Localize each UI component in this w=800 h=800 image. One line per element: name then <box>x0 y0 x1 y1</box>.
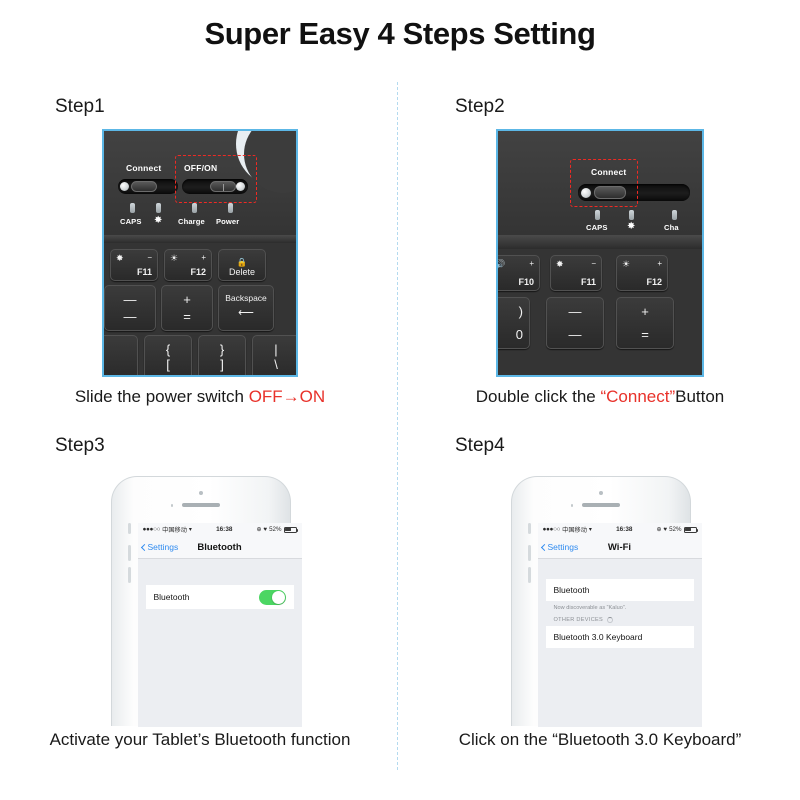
step-1-cell: Step1 Connect OFF/ON <box>0 96 400 407</box>
key-bracket-right-lower: ] <box>199 357 245 372</box>
bluetooth-led <box>629 210 634 220</box>
brightness-down-icon: ✸ <box>556 259 564 270</box>
back-to-settings-button[interactable]: Settings <box>538 542 579 552</box>
silent-switch[interactable] <box>528 523 531 534</box>
key-f10[interactable]: 🔊 + F10 <box>496 255 540 291</box>
bluetooth-icon: ✸ <box>627 222 635 232</box>
key-f12-plus: + <box>657 259 662 268</box>
key-minus-lower: — <box>547 327 603 342</box>
key-minus[interactable]: — — <box>104 285 156 331</box>
phone-body: ●●●○○ 中国移动 ▾ 16:38 ⊕ ♥ 52% <box>511 476 691 726</box>
status-bar: ●●●○○ 中国移动 ▾ 16:38 ⊕ ♥ 52% <box>138 523 302 536</box>
bluetooth-row-label: Bluetooth <box>154 592 190 602</box>
bluetooth-toggle[interactable] <box>259 590 286 605</box>
keyboard-switch-panel: Connect OFF/ON <box>104 131 296 235</box>
signal-dots-icon: ●●●○○ <box>143 526 161 533</box>
key-f12[interactable]: ☀ + F12 <box>164 249 212 281</box>
volume-up-icon: 🔊 <box>496 259 505 270</box>
power-led-label: Power <box>216 217 239 226</box>
connect-highlight-box <box>570 159 638 207</box>
connect-switch-housing[interactable] <box>118 179 178 194</box>
battery-icon <box>284 527 297 533</box>
step-2-caption-suffix: Button <box>675 387 724 406</box>
step-3-caption-text: Activate your Tablet’s Bluetooth functio… <box>50 730 351 749</box>
brightness-up-icon: ☀ <box>622 259 630 270</box>
carrier-name: 中国移动 <box>562 525 587 534</box>
step-4-label: Step4 <box>400 435 800 457</box>
front-camera-icon <box>599 491 603 495</box>
status-right: ⊕ ♥ 52% <box>657 526 697 533</box>
other-devices-label: OTHER DEVICES <box>554 617 604 623</box>
backspace-arrow-icon: ⟵ <box>219 306 273 319</box>
status-time: 16:38 <box>592 526 657 533</box>
key-zero-upper: ) <box>496 304 529 319</box>
caps-led-label: CAPS <box>586 223 608 232</box>
status-icons: ⊕ ♥ <box>257 526 268 533</box>
charge-led-label: Cha <box>664 223 679 232</box>
power-led <box>228 203 233 213</box>
carrier-name: 中国移动 <box>162 525 187 534</box>
chevron-left-icon <box>140 543 147 550</box>
step-1-caption-text: Slide the power switch <box>75 387 249 406</box>
brightness-down-icon: ✸ <box>116 253 124 264</box>
key-backspace[interactable]: Backspace ⟵ <box>218 285 274 331</box>
step-3-label: Step3 <box>0 435 400 457</box>
key-f11[interactable]: ✸ − F11 <box>110 249 158 281</box>
step-4-phone-image: ●●●○○ 中国移动 ▾ 16:38 ⊕ ♥ 52% <box>493 468 708 720</box>
key-bracket-right[interactable]: } ] <box>198 335 246 377</box>
step-1-caption-highlight: OFF→ON <box>249 387 326 406</box>
key-bracket-left[interactable]: { [ <box>144 335 192 377</box>
settings-list: Bluetooth <box>138 559 302 609</box>
steps-row-bottom: Step3 ●●●○○ 中国移动 ▾ <box>0 435 800 750</box>
bluetooth-toggle-row[interactable]: Bluetooth <box>146 585 294 609</box>
key-minus[interactable]: — — <box>546 297 604 349</box>
phone-screen: ●●●○○ 中国移动 ▾ 16:38 ⊕ ♥ 52% <box>538 523 702 727</box>
step-1-keyboard-image: Connect OFF/ON <box>102 129 298 377</box>
charge-led-label: Charge <box>178 217 205 226</box>
status-left: ●●●○○ 中国移动 ▾ <box>143 525 193 534</box>
page-title: Super Easy 4 Steps Setting <box>0 0 800 52</box>
bluetooth-led <box>156 203 161 213</box>
keyboard-keys-area: ✸ − F11 ☀ + F12 🔒 Delete <box>104 235 296 375</box>
key-plus-upper: + <box>162 292 212 307</box>
key-plus-lower: = <box>617 327 673 342</box>
key-backspace-label: Backspace <box>219 293 273 303</box>
phone-screen: ●●●○○ 中国移动 ▾ 16:38 ⊕ ♥ 52% <box>138 523 302 727</box>
chevron-left-icon <box>540 543 547 550</box>
key-f11-minus: − <box>591 259 596 268</box>
key-plus[interactable]: + = <box>161 285 213 331</box>
device-row-bluetooth-keyboard[interactable]: Bluetooth 3.0 Keyboard <box>546 626 694 648</box>
status-right: ⊕ ♥ 52% <box>257 526 297 533</box>
key-f12-plus: + <box>201 253 206 262</box>
keyboard-edge-strip <box>498 235 702 249</box>
proximity-sensor-icon <box>571 504 574 507</box>
key-plus-lower: = <box>162 309 212 324</box>
key-backslash-lower: \ <box>253 357 298 372</box>
key-delete-label: Delete <box>219 267 265 277</box>
off-on-highlight-box <box>175 155 257 203</box>
key-minus-upper: — <box>105 292 155 307</box>
proximity-sensor-icon <box>171 504 174 507</box>
brightness-up-icon: ☀ <box>170 253 178 264</box>
keyboard-keys-area: 🔊 + F10 ✸ − F11 ☀ + F12 <box>498 235 702 375</box>
step-2-label: Step2 <box>400 96 800 118</box>
back-label: Settings <box>548 542 579 552</box>
connect-switch-indicator <box>120 182 129 191</box>
key-f12[interactable]: ☀ + F12 <box>616 255 668 291</box>
step-2-caption: Double click the “Connect”Button <box>400 387 800 407</box>
bluetooth-row[interactable]: Bluetooth <box>546 579 694 601</box>
steps-grid: Step1 Connect OFF/ON <box>0 96 800 750</box>
key-row3-partial[interactable] <box>102 335 138 377</box>
earpiece-speaker <box>582 503 620 507</box>
key-plus[interactable]: + = <box>616 297 674 349</box>
key-f11-label: F11 <box>137 267 152 277</box>
key-plus-upper: + <box>617 304 673 319</box>
charge-led <box>192 203 197 213</box>
volume-down-button[interactable] <box>528 567 531 583</box>
step-2-keyboard-image: Connect CAPS ✸ Cha � <box>496 129 704 377</box>
silent-switch[interactable] <box>128 523 131 534</box>
other-devices-header: OTHER DEVICES <box>554 617 702 623</box>
connect-switch-knob[interactable] <box>131 181 157 192</box>
step-1-caption: Slide the power switch OFF→ON <box>0 387 400 407</box>
keyboard-edge-strip <box>104 235 296 243</box>
settings-list: Bluetooth Now discoverable as “Kaluo”. O… <box>538 559 702 648</box>
bluetooth-row-label: Bluetooth <box>554 585 590 595</box>
keyboard-switch-panel: Connect CAPS ✸ Cha <box>498 131 702 235</box>
battery-icon <box>684 527 697 533</box>
earpiece-speaker <box>182 503 220 507</box>
status-bar: ●●●○○ 中国移动 ▾ 16:38 ⊕ ♥ 52% <box>538 523 702 536</box>
key-zero-lower: 0 <box>496 327 529 342</box>
key-f11-label: F11 <box>581 277 596 287</box>
key-minus-upper: — <box>547 304 603 319</box>
phone-body: ●●●○○ 中国移动 ▾ 16:38 ⊕ ♥ 52% <box>111 476 291 726</box>
caps-led-label: CAPS <box>120 217 142 226</box>
step-3-phone-image: ●●●○○ 中国移动 ▾ 16:38 ⊕ ♥ 52% <box>93 468 308 720</box>
step-4-caption-text: Click on the “Bluetooth 3.0 Keyboard” <box>459 730 742 749</box>
caps-led <box>595 210 600 220</box>
key-backslash-upper: | <box>253 342 298 357</box>
key-f11-minus: − <box>147 253 152 262</box>
nav-bar: Settings Bluetooth <box>138 536 302 559</box>
key-minus-lower: — <box>105 309 155 324</box>
step-4-caption: Click on the “Bluetooth 3.0 Keyboard” <box>400 730 800 750</box>
connect-label: Connect <box>126 163 161 173</box>
volume-up-button[interactable] <box>528 545 531 561</box>
signal-dots-icon: ●●●○○ <box>543 526 561 533</box>
volume-down-button[interactable] <box>128 567 131 583</box>
status-time: 16:38 <box>192 526 257 533</box>
battery-percent: 52% <box>269 526 281 533</box>
caps-led <box>130 203 135 213</box>
key-bracket-left-upper: { <box>145 342 191 357</box>
bluetooth-icon: ✸ <box>154 216 162 226</box>
charge-led <box>672 210 677 220</box>
battery-percent: 52% <box>669 526 681 533</box>
key-f12-label: F12 <box>646 277 662 287</box>
back-label: Settings <box>148 542 179 552</box>
status-icons: ⊕ ♥ <box>657 526 668 533</box>
front-camera-icon <box>199 491 203 495</box>
step-1-label: Step1 <box>0 96 400 118</box>
loading-spinner-icon <box>607 617 613 623</box>
key-f10-label: F10 <box>518 277 534 287</box>
step-4-cell: Step4 ●●●○○ 中国移动 ▾ <box>400 435 800 750</box>
key-f11[interactable]: ✸ − F11 <box>550 255 602 291</box>
nav-bar: Settings Wi-Fi <box>538 536 702 559</box>
device-row-label: Bluetooth 3.0 Keyboard <box>554 632 643 642</box>
key-zero[interactable]: ) 0 <box>496 297 530 349</box>
steps-row-top: Step1 Connect OFF/ON <box>0 96 800 407</box>
key-f10-plus: + <box>529 259 534 268</box>
step-2-cell: Step2 Connect CAPS ✸ Cha <box>400 96 800 407</box>
back-to-settings-button[interactable]: Settings <box>138 542 179 552</box>
key-bracket-left-lower: [ <box>145 357 191 372</box>
step-2-caption-highlight: “Connect” <box>600 387 675 406</box>
step-2-caption-text: Double click the <box>476 387 601 406</box>
step-3-cell: Step3 ●●●○○ 中国移动 ▾ <box>0 435 400 750</box>
step-3-caption: Activate your Tablet’s Bluetooth functio… <box>0 730 400 750</box>
status-left: ●●●○○ 中国移动 ▾ <box>543 525 593 534</box>
key-bracket-right-upper: } <box>199 342 245 357</box>
key-delete[interactable]: 🔒 Delete <box>218 249 266 281</box>
volume-up-button[interactable] <box>128 545 131 561</box>
discoverable-note: Now discoverable as “Kaluo”. <box>554 605 702 611</box>
key-backslash[interactable]: | \ <box>252 335 298 377</box>
key-f12-label: F12 <box>190 267 206 277</box>
